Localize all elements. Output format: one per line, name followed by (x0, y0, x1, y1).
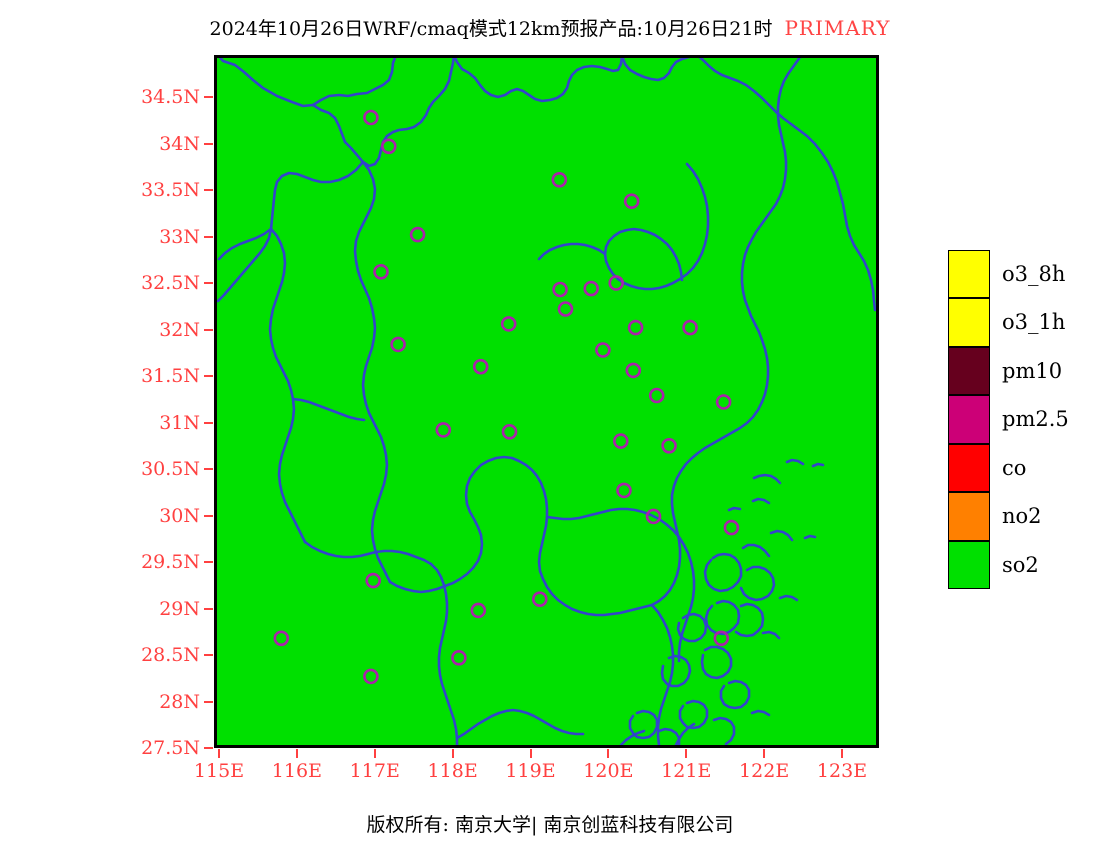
station-marker (367, 574, 380, 587)
station-marker (559, 303, 572, 316)
x-axis-tick (452, 749, 454, 758)
legend-item-o3-1h[interactable]: o3_1h (948, 299, 1069, 348)
y-axis-tick (204, 561, 213, 563)
station-marker (392, 338, 405, 351)
legend-item-no2[interactable]: no2 (948, 493, 1069, 542)
y-axis-label: 31.5N (141, 365, 200, 387)
title-main-text: 2024年10月26日WRF/cmaq模式12km预报产品:10月26日21时 (210, 18, 773, 40)
station-marker (614, 435, 627, 448)
page-title: 2024年10月26日WRF/cmaq模式12km预报产品:10月26日21时P… (0, 14, 1100, 41)
legend-label: pm10 (1002, 361, 1062, 382)
x-axis-label: 118E (428, 760, 478, 782)
y-axis-label: 34N (159, 133, 200, 155)
y-axis-label: 34.5N (141, 86, 200, 108)
y-axis-tick (204, 236, 213, 238)
station-marker (627, 364, 640, 377)
legend-swatch (948, 395, 990, 444)
x-axis-tick (763, 749, 765, 758)
station-marker (596, 344, 609, 357)
x-axis-label: 117E (350, 760, 400, 782)
y-axis-label: 30N (159, 505, 200, 527)
legend-item-pm10[interactable]: pm10 (948, 347, 1069, 396)
y-axis-tick (204, 189, 213, 191)
title-primary-badge: PRIMARY (784, 16, 890, 40)
x-axis-label: 122E (739, 760, 789, 782)
legend-label: co (1002, 458, 1026, 479)
province-boundaries (217, 58, 875, 745)
copyright-footer: 版权所有: 南京大学| 南京创蓝科技有限公司 (0, 810, 1100, 837)
x-axis-tick (607, 749, 609, 758)
y-axis-tick (204, 608, 213, 610)
station-marker (585, 282, 598, 295)
x-axis-tick (374, 749, 376, 758)
station-marker (411, 228, 424, 241)
y-axis-tick (204, 654, 213, 656)
station-marker (625, 195, 638, 208)
x-axis-label: 120E (583, 760, 633, 782)
y-axis-tick (204, 96, 213, 98)
y-axis-label: 30.5N (141, 458, 200, 480)
station-marker (554, 283, 567, 296)
station-marker (553, 173, 566, 186)
station-marker (503, 425, 516, 438)
station-marker (717, 396, 730, 409)
x-axis-tick (218, 749, 220, 758)
station-marker (452, 651, 465, 664)
y-axis-label: 32N (159, 319, 200, 341)
station-marker (437, 423, 450, 436)
legend-label: no2 (1002, 506, 1042, 527)
x-axis-tick (296, 749, 298, 758)
x-axis-tick (685, 749, 687, 758)
x-axis-tick (530, 749, 532, 758)
y-axis-tick (204, 468, 213, 470)
station-marker (533, 593, 546, 606)
x-axis-label: 116E (272, 760, 322, 782)
station-marker (502, 317, 515, 330)
y-axis-label: 33.5N (141, 179, 200, 201)
legend-item-co[interactable]: co (948, 444, 1069, 493)
legend-label: o3_8h (1002, 264, 1065, 285)
station-marker (725, 521, 738, 534)
legend-label: so2 (1002, 555, 1039, 576)
x-axis-tick (841, 749, 843, 758)
legend-swatch (948, 298, 990, 347)
station-markers (275, 111, 738, 683)
y-axis-label: 29.5N (141, 551, 200, 573)
legend-item-o3-8h[interactable]: o3_8h (948, 250, 1069, 299)
x-axis-label: 123E (817, 760, 867, 782)
y-axis-label: 31N (159, 412, 200, 434)
legend-item-so2[interactable]: so2 (948, 541, 1069, 590)
y-axis-label: 32.5N (141, 272, 200, 294)
station-marker (663, 439, 676, 452)
station-marker (618, 484, 631, 497)
forecast-map[interactable] (214, 55, 879, 748)
y-axis-tick (204, 143, 213, 145)
station-marker (364, 111, 377, 124)
y-axis-tick (204, 701, 213, 703)
y-axis-label: 28N (159, 691, 200, 713)
y-axis-tick (204, 282, 213, 284)
y-axis-label: 28.5N (141, 644, 200, 666)
station-marker (364, 670, 377, 683)
x-axis-label: 121E (661, 760, 711, 782)
y-axis-label: 29N (159, 598, 200, 620)
y-axis-tick (204, 329, 213, 331)
legend-panel: o3_8ho3_1hpm10pm2.5cono2so2 (948, 250, 1069, 590)
station-marker (684, 321, 697, 334)
legend-swatch (948, 492, 990, 541)
map-canvas (217, 58, 876, 745)
y-axis-tick (204, 375, 213, 377)
y-axis-label: 27.5N (141, 737, 200, 759)
x-axis-label: 115E (194, 760, 244, 782)
legend-swatch (948, 250, 990, 299)
station-marker (472, 604, 485, 617)
legend-swatch (948, 541, 990, 590)
y-axis-tick (204, 515, 213, 517)
station-marker (382, 140, 395, 153)
station-marker (629, 321, 642, 334)
legend-label: pm2.5 (1002, 409, 1069, 430)
legend-swatch (948, 444, 990, 493)
x-axis-label: 119E (505, 760, 555, 782)
y-axis-tick (204, 747, 213, 749)
legend-item-pm2-5[interactable]: pm2.5 (948, 396, 1069, 445)
y-axis-label: 33N (159, 226, 200, 248)
legend-label: o3_1h (1002, 312, 1065, 333)
station-marker (650, 389, 663, 402)
station-marker (474, 360, 487, 373)
station-marker (275, 632, 288, 645)
station-marker (375, 265, 388, 278)
y-axis-tick (204, 422, 213, 424)
legend-swatch (948, 347, 990, 396)
